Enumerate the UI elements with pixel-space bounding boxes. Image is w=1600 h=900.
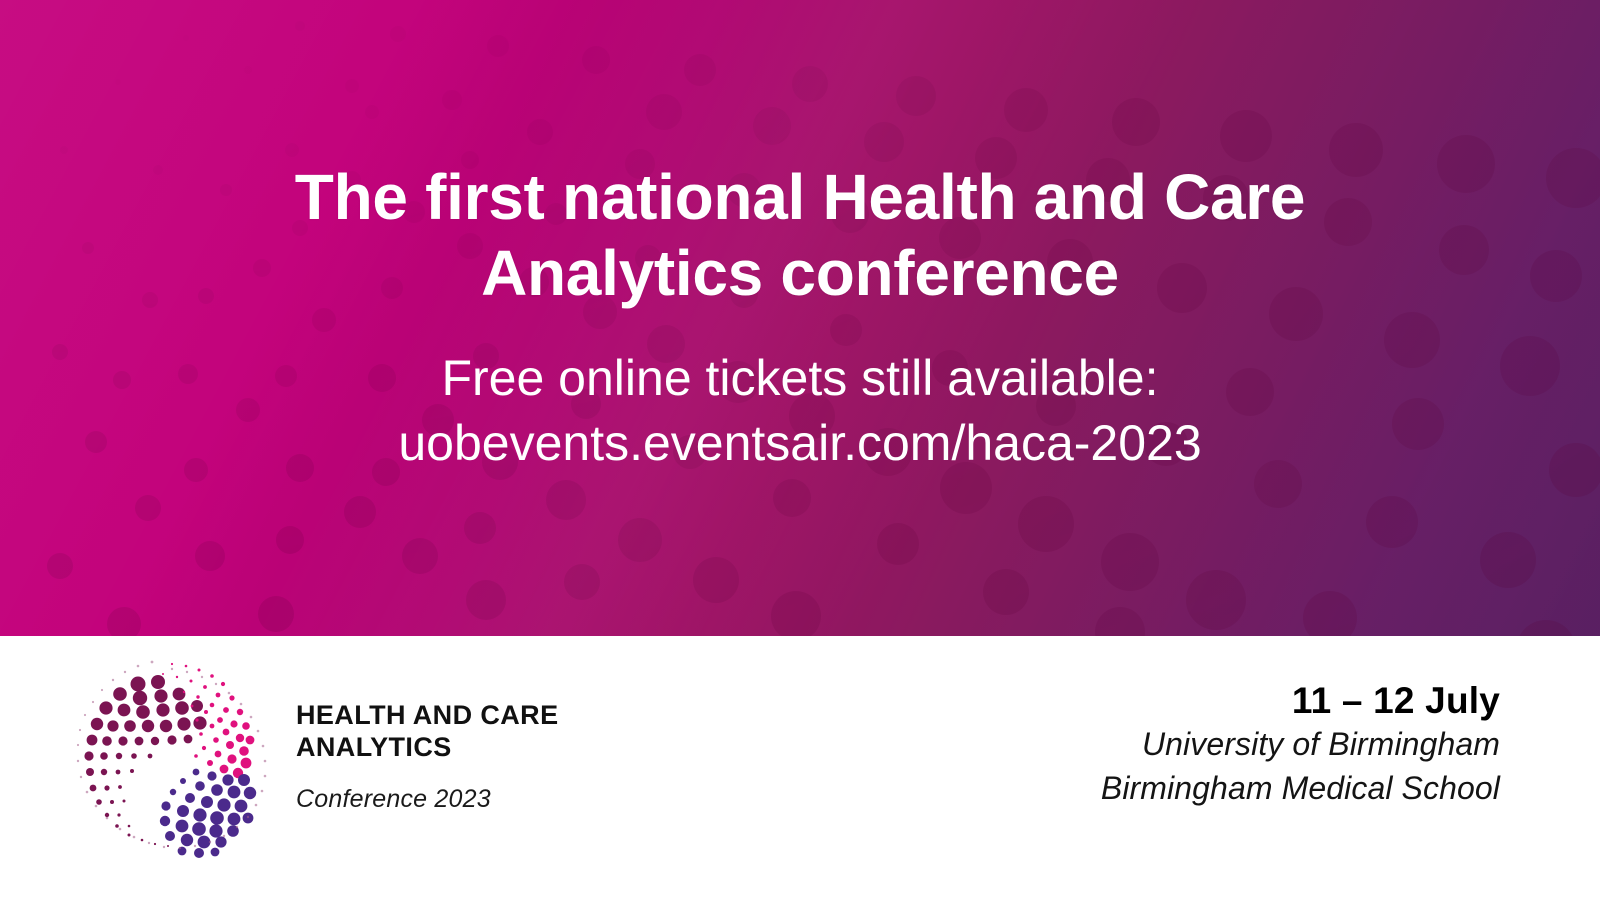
event-venue-organisation: University of Birmingham [1101,725,1500,765]
event-details: 11 – 12 July University of Birmingham Bi… [1101,636,1600,809]
event-venue-building: Birmingham Medical School [1101,769,1500,809]
banner-hero: The first national Health and Care Analy… [0,0,1600,636]
brand-name: HEALTH AND CARE ANALYTICS [296,700,559,763]
registration-url[interactable]: uobevents.eventsair.com/haca-2023 [398,411,1201,476]
haca-halftone-logo-icon [66,650,276,860]
event-dates: 11 – 12 July [1101,680,1500,721]
ticket-availability-text: Free online tickets still available: [441,350,1158,406]
headline: The first national Health and Care Analy… [150,160,1450,311]
banner-copy: The first national Health and Care Analy… [0,0,1600,636]
brand-lockup: HEALTH AND CARE ANALYTICS Conference 202… [0,636,559,860]
conference-promo-slide: The first national Health and Care Analy… [0,0,1600,900]
subheadline-block: Free online tickets still available: uob… [398,346,1201,476]
brand-tagline: Conference 2023 [296,785,559,814]
footer-bar: HEALTH AND CARE ANALYTICS Conference 202… [0,636,1600,900]
brand-wordmark: HEALTH AND CARE ANALYTICS Conference 202… [296,700,559,814]
